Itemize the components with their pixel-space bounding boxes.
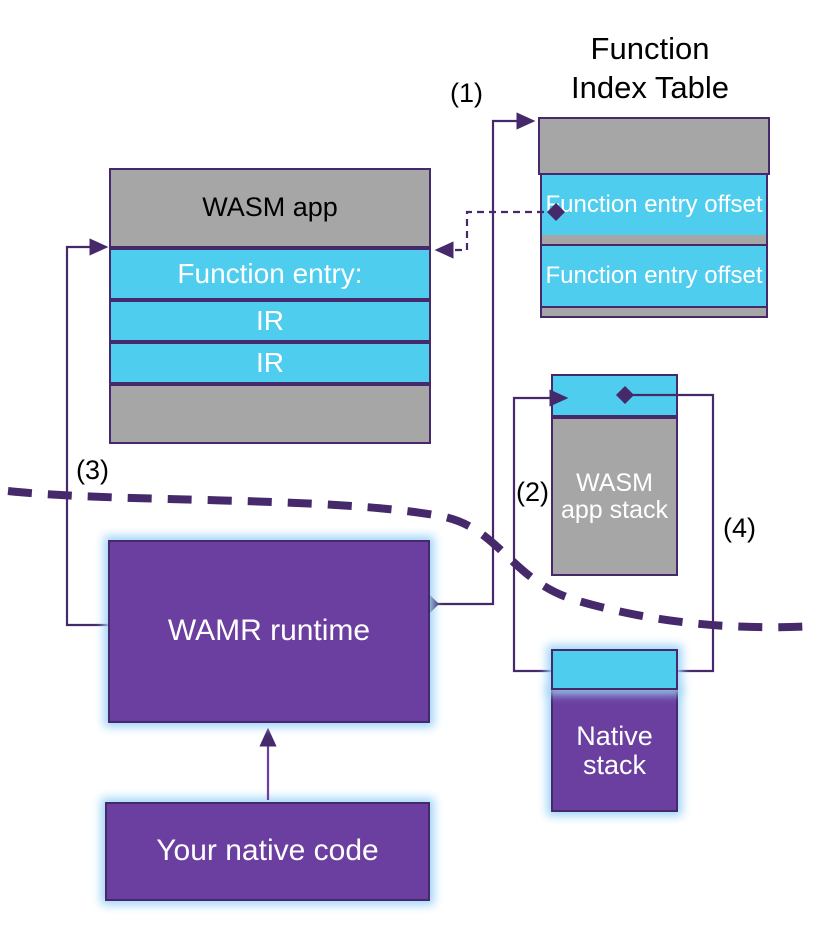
wasm-app-stack-body: WASM app stack	[551, 417, 678, 576]
step-label-2: (2)	[516, 477, 549, 508]
connector-step-3	[67, 247, 108, 625]
wasm-app-ir-1: IR	[109, 300, 431, 342]
fit-row-function-entry-offset-2-label: Function entry offset	[545, 263, 762, 289]
connector-step-1	[430, 121, 533, 604]
wamr-runtime-label: WAMR runtime	[168, 615, 370, 647]
step-label-1: (1)	[450, 78, 483, 109]
wasm-app-header: WASM app	[109, 168, 431, 248]
fit-row-function-entry-offset-1-label: Function entry offset	[545, 192, 762, 218]
wasm-app-ir-1-label: IR	[256, 306, 284, 336]
wasm-app-stack-top-band	[551, 374, 678, 417]
connector-step-1-return	[437, 212, 556, 250]
your-native-code-box: Your native code	[105, 802, 430, 901]
fit-row-separator-1	[540, 235, 768, 244]
native-stack-body: Native stack	[551, 690, 678, 812]
diagram-canvas: Function Index Table Function entry offs…	[0, 0, 819, 925]
wasm-app-footer	[109, 384, 431, 444]
wasm-app-header-label: WASM app	[202, 193, 338, 222]
wasm-app-ir-2-label: IR	[256, 348, 284, 378]
fit-row-function-entry-offset-2: Function entry offset	[540, 244, 768, 308]
function-index-table-title: Function Index Table	[520, 30, 780, 108]
wasm-app-stack-label: WASM app stack	[561, 470, 668, 524]
wasm-app-function-entry: Function entry:	[109, 248, 431, 300]
step-label-3: (3)	[76, 455, 109, 486]
fit-row-function-entry-offset-1: Function entry offset	[540, 175, 768, 235]
wamr-runtime-box: WAMR runtime	[108, 540, 430, 723]
native-stack-label: Native stack	[576, 722, 653, 780]
wasm-app-function-entry-label: Function entry:	[177, 259, 362, 289]
native-stack-top-band	[551, 649, 678, 690]
fit-row-empty-top	[538, 117, 770, 175]
wasm-app-ir-2: IR	[109, 342, 431, 384]
fit-row-separator-2	[540, 308, 768, 318]
step-label-4: (4)	[723, 513, 756, 544]
your-native-code-label: Your native code	[156, 835, 378, 867]
